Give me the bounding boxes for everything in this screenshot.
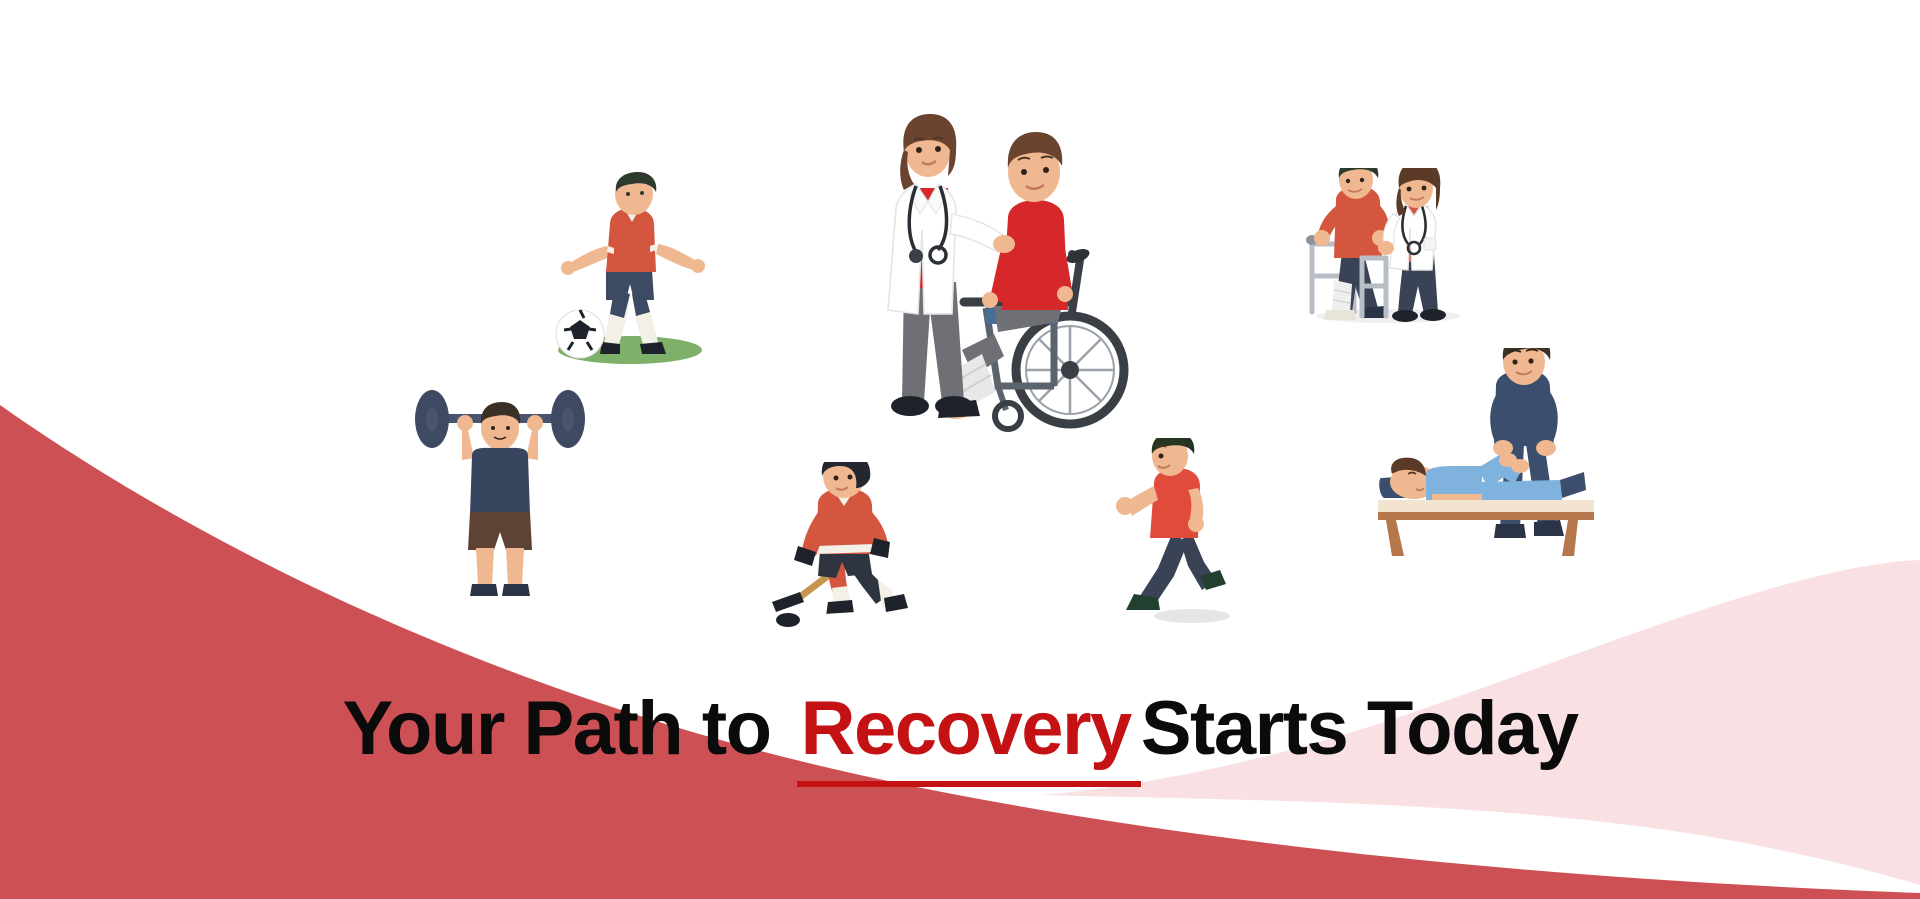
- hero-banner: Your Path toRecoveryStarts Today: [0, 0, 1920, 899]
- illustration-weightlifter: [410, 390, 590, 602]
- illustration-walker-rehab: [1300, 168, 1470, 324]
- illustration-soccer-player: [548, 172, 718, 372]
- headline-part-two: Starts Today: [1141, 686, 1578, 771]
- headline-accent-word: Recovery: [797, 686, 1141, 787]
- illustration-runner: [1116, 438, 1246, 628]
- illustration-hockey-player: [752, 462, 932, 634]
- illustration-doctor-wheelchair: [858, 110, 1138, 450]
- page-title: Your Path toRecoveryStarts Today: [0, 687, 1920, 771]
- headline-part-one: Your Path to: [342, 686, 770, 771]
- illustration-physio-table: [1378, 348, 1618, 560]
